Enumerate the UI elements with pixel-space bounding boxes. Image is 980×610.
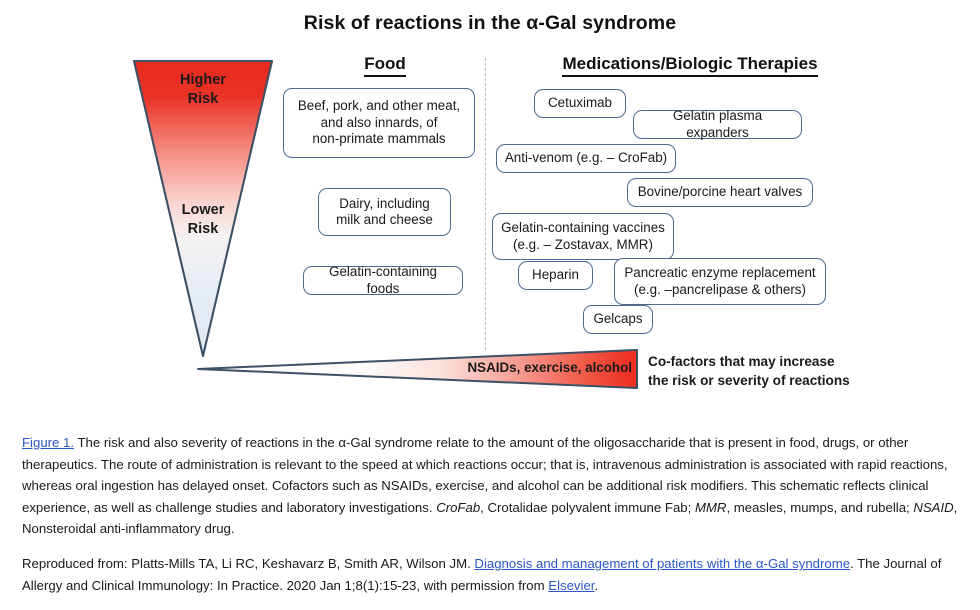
food-box-meat: Beef, pork, and other meat, and also inn… xyxy=(283,88,475,158)
credit-body-1: Reproduced from: Platts-Mills TA, Li RC,… xyxy=(22,556,474,571)
med-box-pancreatic-enzyme-line1: Pancreatic enzyme replacement xyxy=(624,265,815,282)
med-box-heart-valves-line1: Bovine/porcine heart valves xyxy=(638,184,803,201)
med-box-gelatin-plasma-expanders: Gelatin plasma expanders xyxy=(633,110,802,139)
cofactor-note-line2: the risk or severity of reactions xyxy=(648,371,850,390)
cofactor-wedge-label: NSAIDs, exercise, alcohol xyxy=(468,360,632,375)
cofactor-note: Co-factors that may increase the risk or… xyxy=(648,352,850,390)
med-box-gelatin-vaccines: Gelatin-containing vaccines (e.g. – Zost… xyxy=(492,213,674,260)
cofactor-note-line1: Co-factors that may increase xyxy=(648,352,850,371)
med-box-anti-venom-line1: Anti-venom (e.g. – CroFab) xyxy=(505,150,667,167)
figure-caption-abbr-crofab: CroFab xyxy=(436,500,480,515)
food-box-dairy: Dairy, including milk and cheese xyxy=(318,188,451,236)
med-box-anti-venom: Anti-venom (e.g. – CroFab) xyxy=(496,144,676,173)
column-header-food: Food xyxy=(315,54,455,77)
food-box-meat-line2: and also innards, of xyxy=(298,115,460,132)
reproduction-credit: Reproduced from: Platts-Mills TA, Li RC,… xyxy=(22,553,958,596)
cofactor-gradient-wedge: NSAIDs, exercise, alcohol xyxy=(196,348,640,390)
risk-gradient-triangle: Higher Risk Lower Risk xyxy=(131,59,275,358)
credit-article-link[interactable]: Diagnosis and management of patients wit… xyxy=(474,556,850,571)
food-box-gelatin-foods-line1: Gelatin-containing foods xyxy=(311,264,455,297)
med-box-heart-valves: Bovine/porcine heart valves xyxy=(627,178,813,207)
food-box-dairy-line1: Dairy, including xyxy=(336,196,433,213)
figure-caption-abbr-mmr: MMR xyxy=(695,500,727,515)
figure-caption-body-2: , Crotalidae polyvalent immune Fab; xyxy=(480,500,695,515)
med-box-pancreatic-enzyme-line2: (e.g. –pancrelipase & others) xyxy=(624,282,815,299)
figure-caption-abbr-nsaid: NSAID xyxy=(913,500,953,515)
figure-caption-body-3: , measles, mumps, and rubella; xyxy=(726,500,913,515)
column-header-medications-label: Medications/Biologic Therapies xyxy=(562,54,817,77)
med-box-heparin: Heparin xyxy=(518,261,593,290)
column-header-food-label: Food xyxy=(364,54,406,77)
med-box-cetuximab-line1: Cetuximab xyxy=(548,95,612,112)
med-box-heparin-line1: Heparin xyxy=(532,267,579,284)
figure-title: Risk of reactions in the α-Gal syndrome xyxy=(0,12,980,35)
med-box-pancreatic-enzyme: Pancreatic enzyme replacement (e.g. –pan… xyxy=(614,258,826,305)
food-box-meat-line3: non-primate mammals xyxy=(298,131,460,148)
column-header-medications: Medications/Biologic Therapies xyxy=(500,54,880,77)
med-box-gelcaps-line1: Gelcaps xyxy=(593,311,642,328)
med-box-gelcaps: Gelcaps xyxy=(583,305,653,334)
med-box-gelatin-plasma-expanders-line1: Gelatin plasma expanders xyxy=(641,108,794,141)
med-box-gelatin-vaccines-line2: (e.g. – Zostavax, MMR) xyxy=(501,237,665,254)
credit-publisher-link[interactable]: Elsevier xyxy=(548,578,594,593)
med-box-gelatin-vaccines-line1: Gelatin-containing vaccines xyxy=(501,220,665,237)
figure-caption: Figure 1. The risk and also severity of … xyxy=(22,432,958,540)
med-box-cetuximab: Cetuximab xyxy=(534,89,626,118)
food-box-dairy-line2: milk and cheese xyxy=(336,212,433,229)
figure-caption-link[interactable]: Figure 1. xyxy=(22,435,74,450)
food-box-meat-line1: Beef, pork, and other meat, xyxy=(298,98,460,115)
credit-body-3: . xyxy=(594,578,598,593)
food-box-gelatin-foods: Gelatin-containing foods xyxy=(303,266,463,295)
column-divider xyxy=(485,58,486,350)
